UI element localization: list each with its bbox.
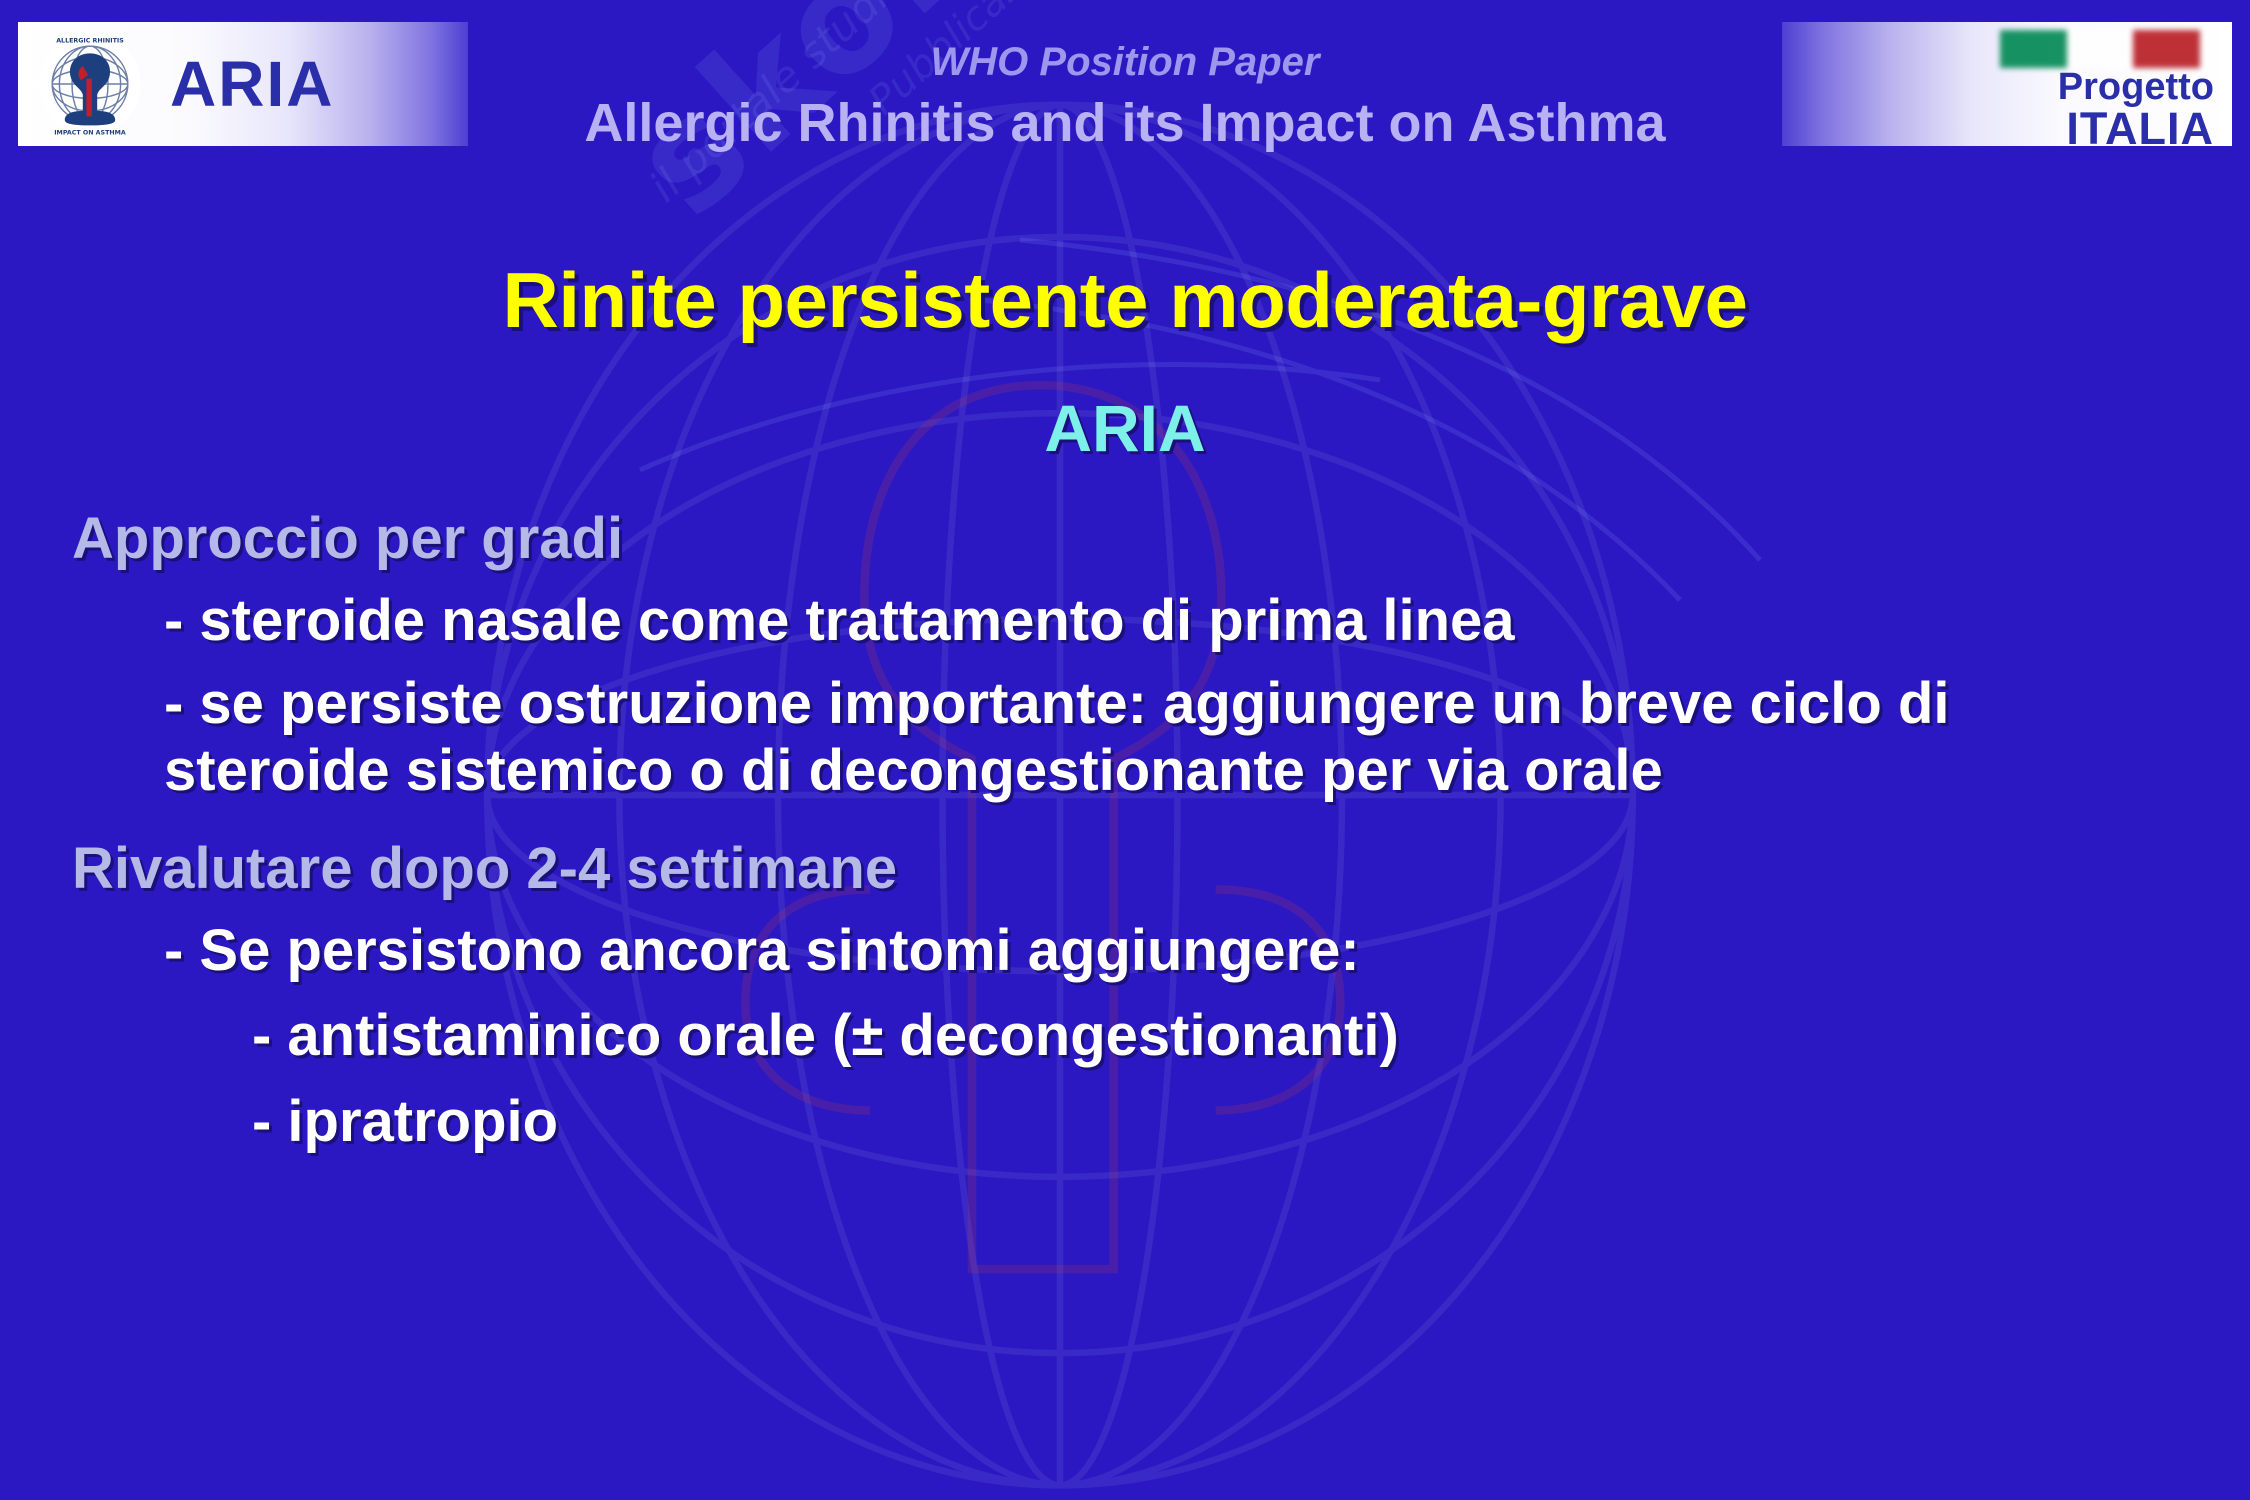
slide-root: skola il portale studio Pubblicazioni in… xyxy=(0,0,2250,1500)
progetto-italia-line2: ITALIA xyxy=(2058,106,2214,151)
section-heading-approach: Approccio per gradi xyxy=(72,508,2182,571)
slide-body: Approccio per gradi - steroide nasale co… xyxy=(72,508,2182,1173)
list-item: - Se persistono ancora sintomi aggiunger… xyxy=(164,917,2182,984)
list-item: - antistaminico orale (± decongestionant… xyxy=(252,1002,2182,1069)
progetto-italia-wordmark: Progetto ITALIA xyxy=(2058,68,2214,151)
italian-flag-icon xyxy=(2000,30,2200,68)
section-heading-reassess: Rivalutare dopo 2-4 settimane xyxy=(72,838,2182,901)
list-item: - se persiste ostruzione importante: agg… xyxy=(164,670,2182,805)
slide-header: ALLERGIC RHINITIS IMPACT ON ASTHMA ARIA … xyxy=(0,0,2250,168)
progetto-italia-logo-plaque: Progetto ITALIA xyxy=(1782,22,2232,146)
page-title: Rinite persistente moderata-grave xyxy=(0,255,2250,346)
list-item: - ipratropio xyxy=(252,1088,2182,1155)
page-subtitle: ARIA xyxy=(0,390,2250,466)
progetto-italia-line1: Progetto xyxy=(2058,68,2214,106)
list-item: - steroide nasale come trattamento di pr… xyxy=(164,587,2182,654)
